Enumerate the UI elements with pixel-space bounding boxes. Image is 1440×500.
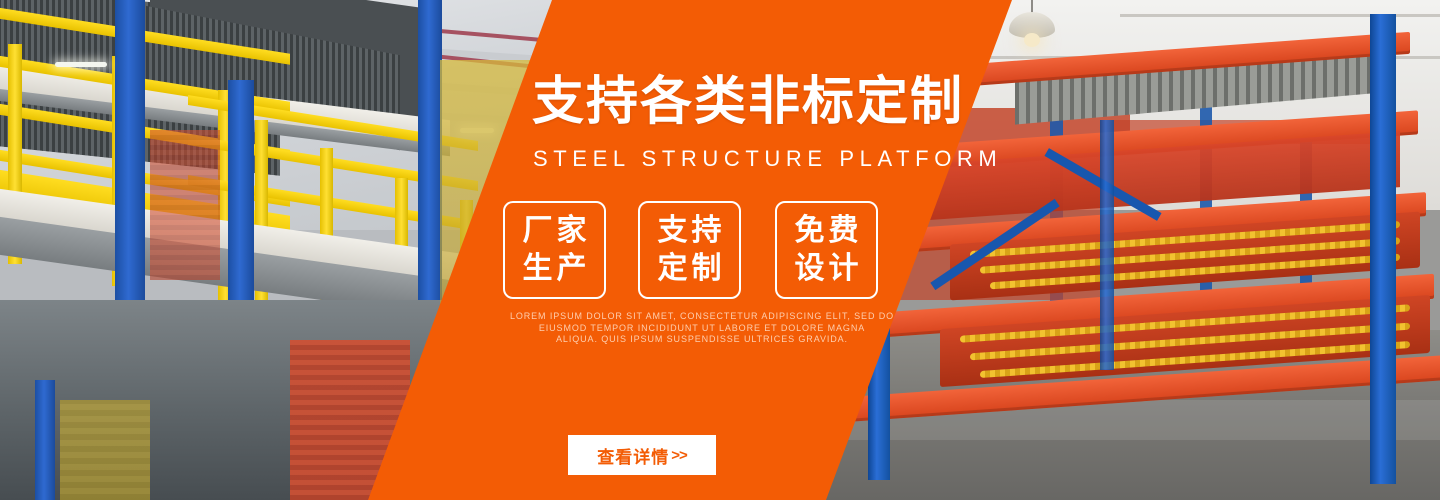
feature-badge-supports-customization: 支持 定制: [638, 201, 741, 299]
page-title: 支持各类非标定制: [532, 72, 972, 132]
chevron-right-icon: >>: [671, 447, 687, 464]
promo-banner: 支持各类非标定制 STEEL STRUCTURE PLATFORM 厂家 生产 …: [0, 0, 1440, 500]
badge-line-1: 支持: [654, 212, 726, 250]
subtitle: STEEL STRUCTURE PLATFORM: [533, 146, 1002, 172]
badge-line-1: 厂家: [519, 212, 591, 250]
badge-line-2: 生产: [519, 250, 591, 288]
description-line-3: ALIQUA. QUIS IPSUM SUSPENDISSE ULTRICES …: [498, 334, 906, 346]
view-details-button[interactable]: 查看详情 >>: [568, 435, 716, 475]
description-text: LOREM IPSUM DOLOR SIT AMET, CONSECTETUR …: [498, 311, 906, 346]
view-details-label: 查看详情: [597, 443, 669, 468]
feature-badges: 厂家 生产 支持 定制 免费 设计: [503, 201, 903, 301]
badge-line-1: 免费: [791, 212, 863, 250]
banner-content: 支持各类非标定制 STEEL STRUCTURE PLATFORM 厂家 生产 …: [0, 0, 1440, 500]
badge-line-2: 定制: [654, 250, 726, 288]
badge-line-2: 设计: [791, 250, 863, 288]
feature-badge-free-design: 免费 设计: [775, 201, 878, 299]
description-line-1: LOREM IPSUM DOLOR SIT AMET, CONSECTETUR …: [498, 311, 906, 323]
feature-badge-factory-production: 厂家 生产: [503, 201, 606, 299]
description-line-2: EIUSMOD TEMPOR INCIDIDUNT UT LABORE ET D…: [498, 323, 906, 335]
